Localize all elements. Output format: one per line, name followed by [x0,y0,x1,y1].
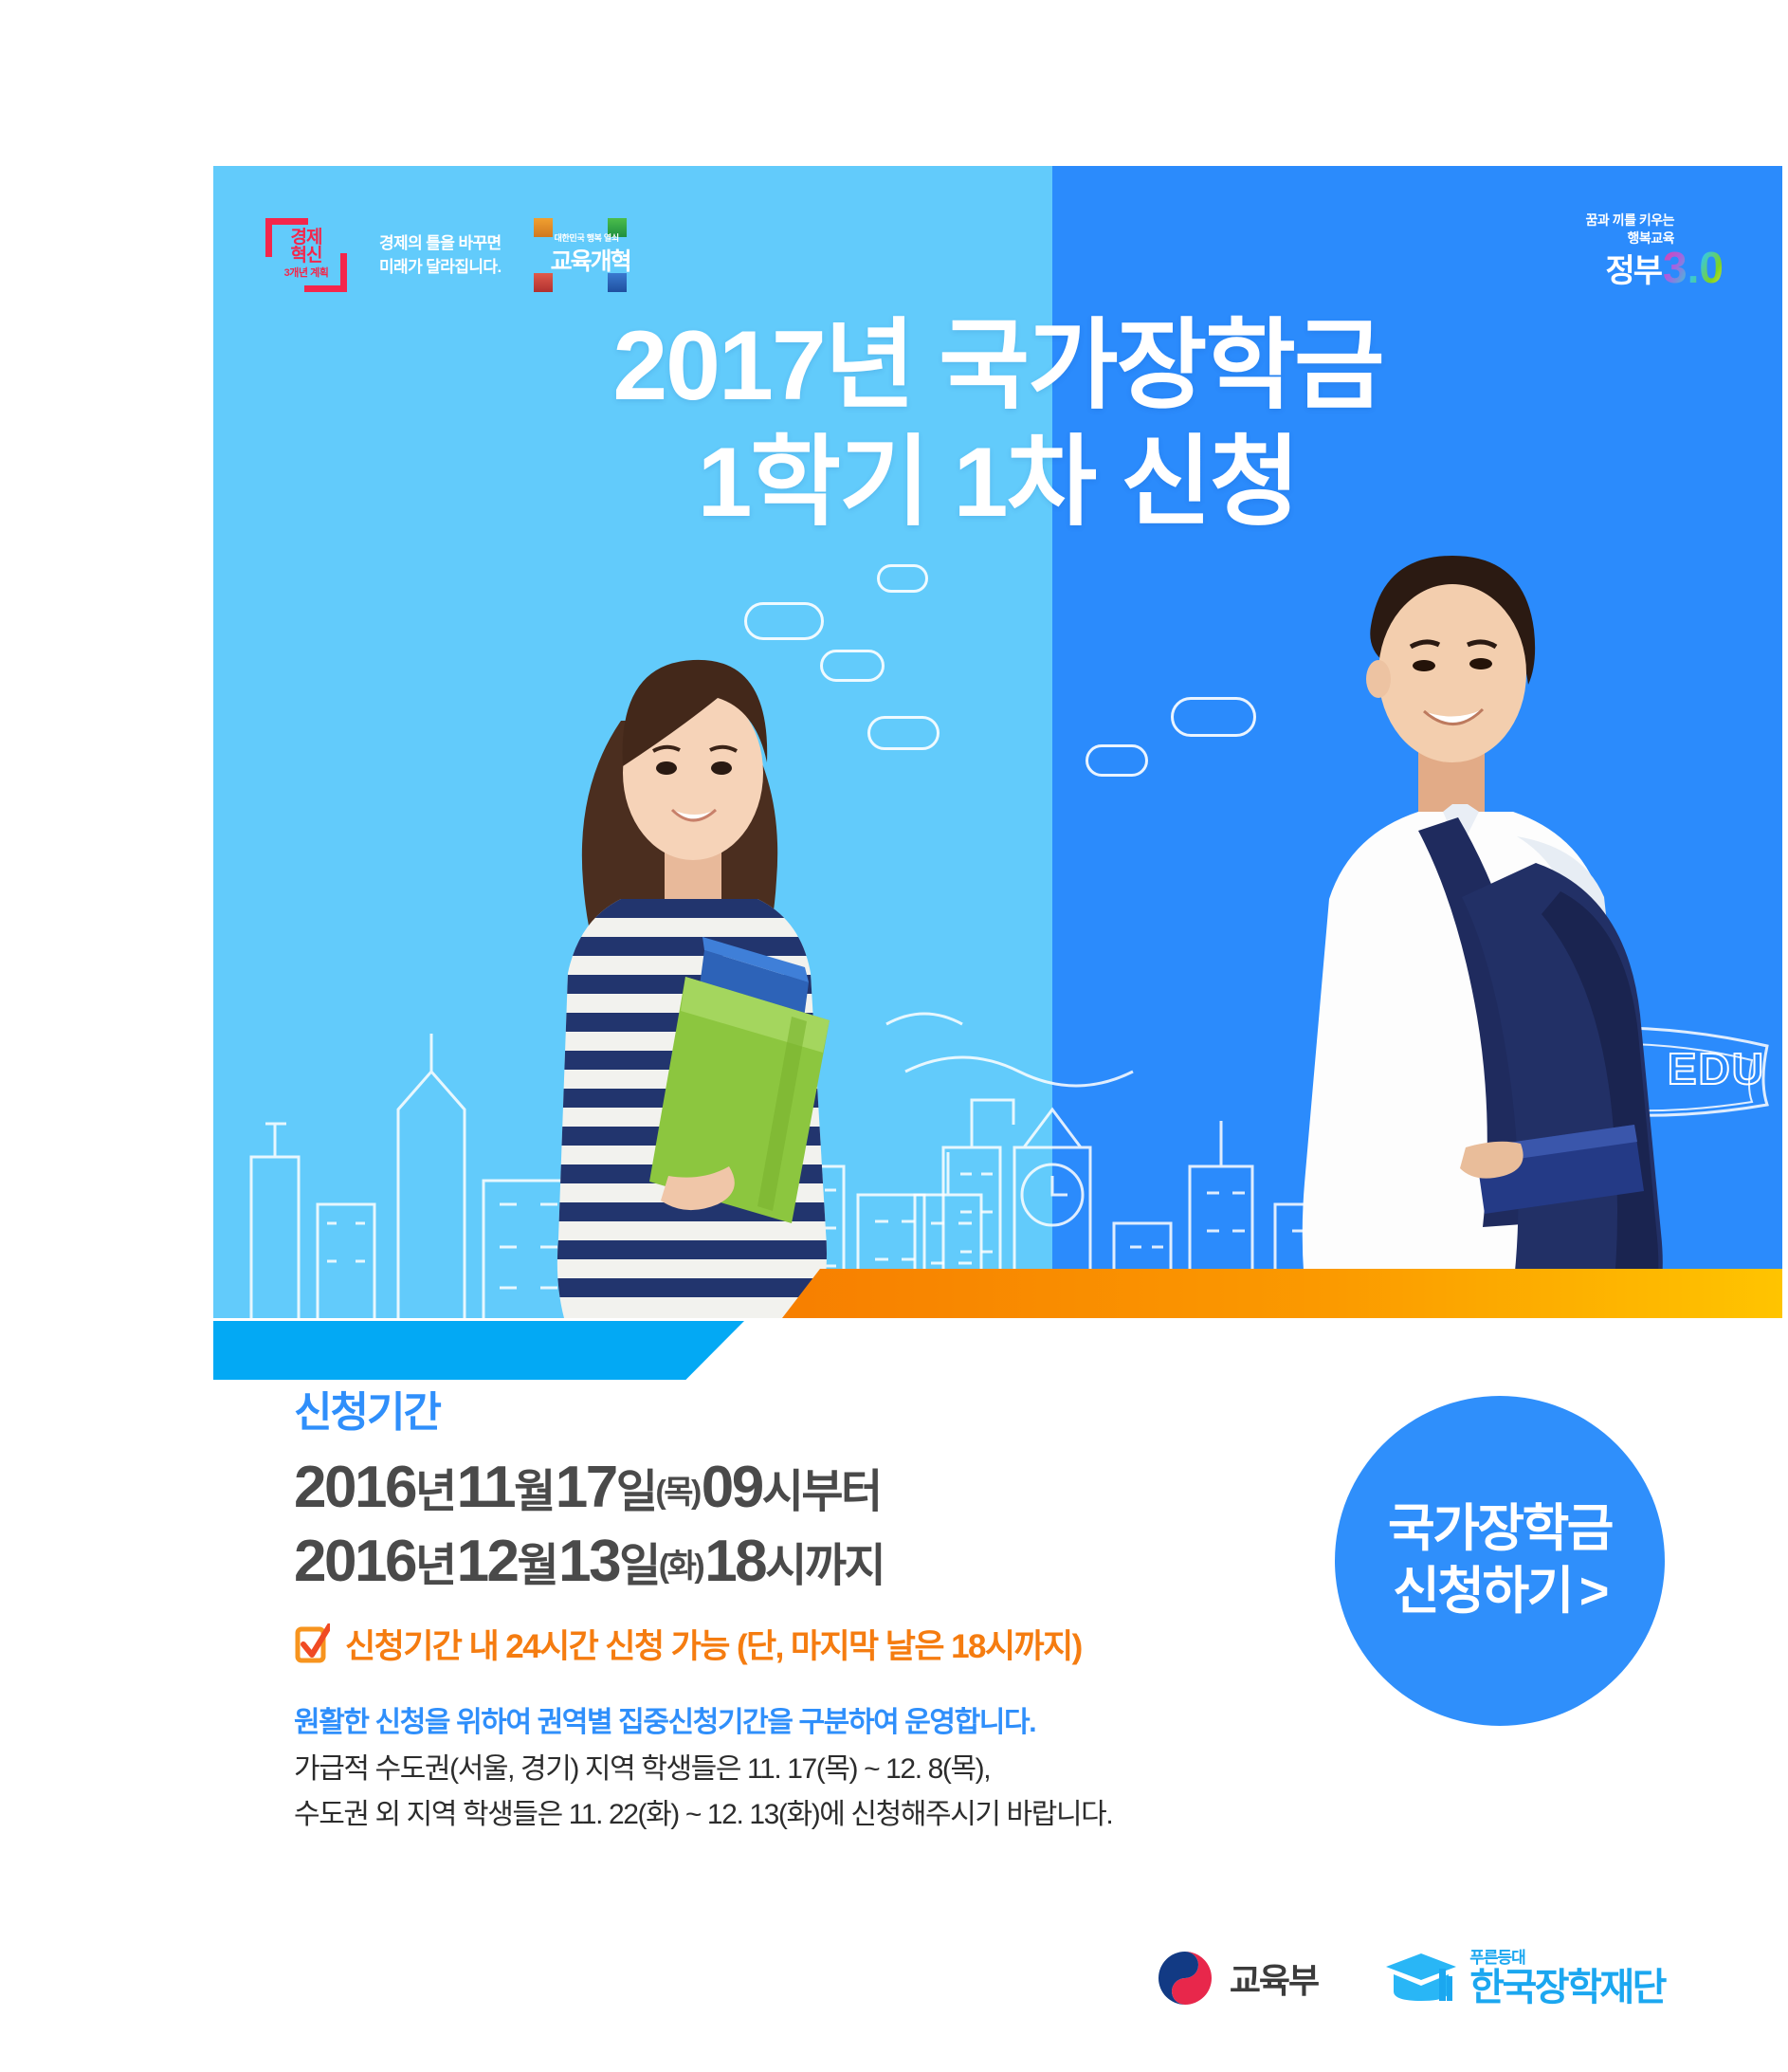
hero-banner: EDU 경제 혁신 3개년 계획 경제의 틀을 바꾸면 미래가 달라집니다. 대… [213,166,1782,1318]
date-row-end: 2016년 12월 13일(화) 18시까지 [294,1525,1318,1599]
mosaic-square-orange [534,218,553,237]
ministry-of-education-label: 교육부 [1230,1953,1318,2003]
top-logo-row: 경제 혁신 3개년 계획 경제의 틀을 바꾸면 미래가 달라집니다. 대한민국 … [265,218,627,292]
end-hour-unit: 시까지 [765,1541,884,1591]
blue-diagonal-band [213,1321,744,1380]
education-reform-logo: 대한민국 행복 열쇠 교육개혁 [534,218,627,292]
note-text: 신청기간 내 24시간 신청 가능 (단, 마지막 날은 18시까지) [345,1620,1082,1668]
economy-slogan-line2: 미래가 달라집니다. [379,258,502,276]
mosaic-square-red [534,273,553,292]
taegeuk-icon [1156,1949,1214,2008]
apply-scholarship-button[interactable]: 국가장학금 신청하기 > [1335,1396,1665,1726]
hero-title-line2: 1학기 1차 신청 [213,425,1782,541]
start-year: 2016 [294,1455,415,1520]
start-weekday: (목) [655,1475,699,1511]
start-day-unit: 일 [616,1467,656,1517]
gov30-word: 정부 [1605,256,1661,286]
paragraph-line-3: 수도권 외 지역 학생들은 11. 22(화) ~ 12. 13(화)에 신청해… [294,1792,1318,1839]
gov30-wordmark: 정부 3.0 [1586,249,1724,286]
bracket-bottom-right-icon [304,253,347,292]
start-hour: 09 [702,1455,762,1520]
gov30-subtitle-line1: 꿈과 끼를 키우는 [1586,212,1674,228]
cloud-icon [1086,744,1148,777]
end-day: 13 [558,1529,619,1594]
end-year-unit: 년 [415,1541,455,1591]
start-year-unit: 년 [415,1467,455,1517]
start-month: 11 [457,1455,515,1520]
hero-title-line1: 2017년 국가장학금 [612,311,1382,421]
government-30-logo: 꿈과 끼를 키우는 행복교육 정부 3.0 [1586,211,1724,286]
kosaf-wordmark: 푸른등대 한국장학재단 [1469,1950,1665,2007]
checkbox-check-icon [294,1623,330,1665]
application-period-section: 신청기간 2016년 11월 17일(목) 09시부터 2016년 12월 13… [294,1392,1318,1839]
kosaf-label: 한국장학재단 [1469,1969,1665,2007]
female-student-photo [479,578,915,1318]
cta-line2: 신청하기 [1393,1561,1572,1623]
kosaf-logo: 푸른등대 한국장학재단 [1384,1950,1665,2007]
end-year: 2016 [294,1529,415,1594]
end-day-unit: 일 [619,1541,659,1591]
end-month: 12 [457,1529,518,1594]
paragraph-line-1: 원활한 신청을 위하여 권역별 집중신청기간을 구분하여 운영합니다. [294,1700,1318,1747]
start-day: 17 [556,1455,616,1520]
note-row: 신청기간 내 24시간 신청 가능 (단, 마지막 날은 18시까지) [294,1620,1318,1668]
economy-slogan-line1: 경제의 틀을 바꾸면 [379,234,502,252]
male-student-photo [1204,484,1697,1318]
gov30-subtitle: 꿈과 끼를 키우는 행복교육 [1586,211,1674,248]
cta-line2-wrap: 신청하기 > [1393,1561,1607,1623]
economy-reform-slogan: 경제의 틀을 바꾸면 미래가 달라집니다. [379,231,502,280]
end-hour: 18 [704,1529,765,1594]
regional-guidance-paragraph: 원활한 신청을 위하여 권역별 집중신청기간을 구분하여 운영합니다. 가급적 … [294,1700,1318,1839]
end-month-unit: 월 [518,1541,557,1591]
chevron-right-icon: > [1579,1561,1607,1623]
education-reform-big: 교육개혁 [551,243,630,277]
start-hour-unit: 시부터 [762,1467,881,1517]
graduation-cap-icon [1384,1950,1458,2007]
gov30-number: 3.0 [1663,249,1724,286]
kosaf-tagline: 푸른등대 [1469,1950,1665,1966]
paragraph-line-2: 가급적 수도권(서울, 경기) 지역 학생들은 11. 17(목) ~ 12. … [294,1747,1318,1793]
economy-reform-logo: 경제 혁신 3개년 계획 [265,218,347,292]
date-row-start: 2016년 11월 17일(목) 09시부터 [294,1451,1318,1525]
start-month-unit: 월 [514,1467,554,1517]
end-weekday: (화) [659,1549,702,1585]
bracket-top-left-icon [265,218,308,257]
footer-logo-row: 교육부 푸른등대 한국장학재단 [1156,1949,1665,2008]
orange-diagonal-band [213,1269,1782,1318]
application-period-heading: 신청기간 [294,1392,1318,1434]
hero-title: 2017년 국가장학금 1학기 1차 신청 [213,308,1782,541]
cta-line1: 국가장학금 [1388,1498,1612,1561]
ministry-of-education-logo: 교육부 [1156,1949,1318,2008]
